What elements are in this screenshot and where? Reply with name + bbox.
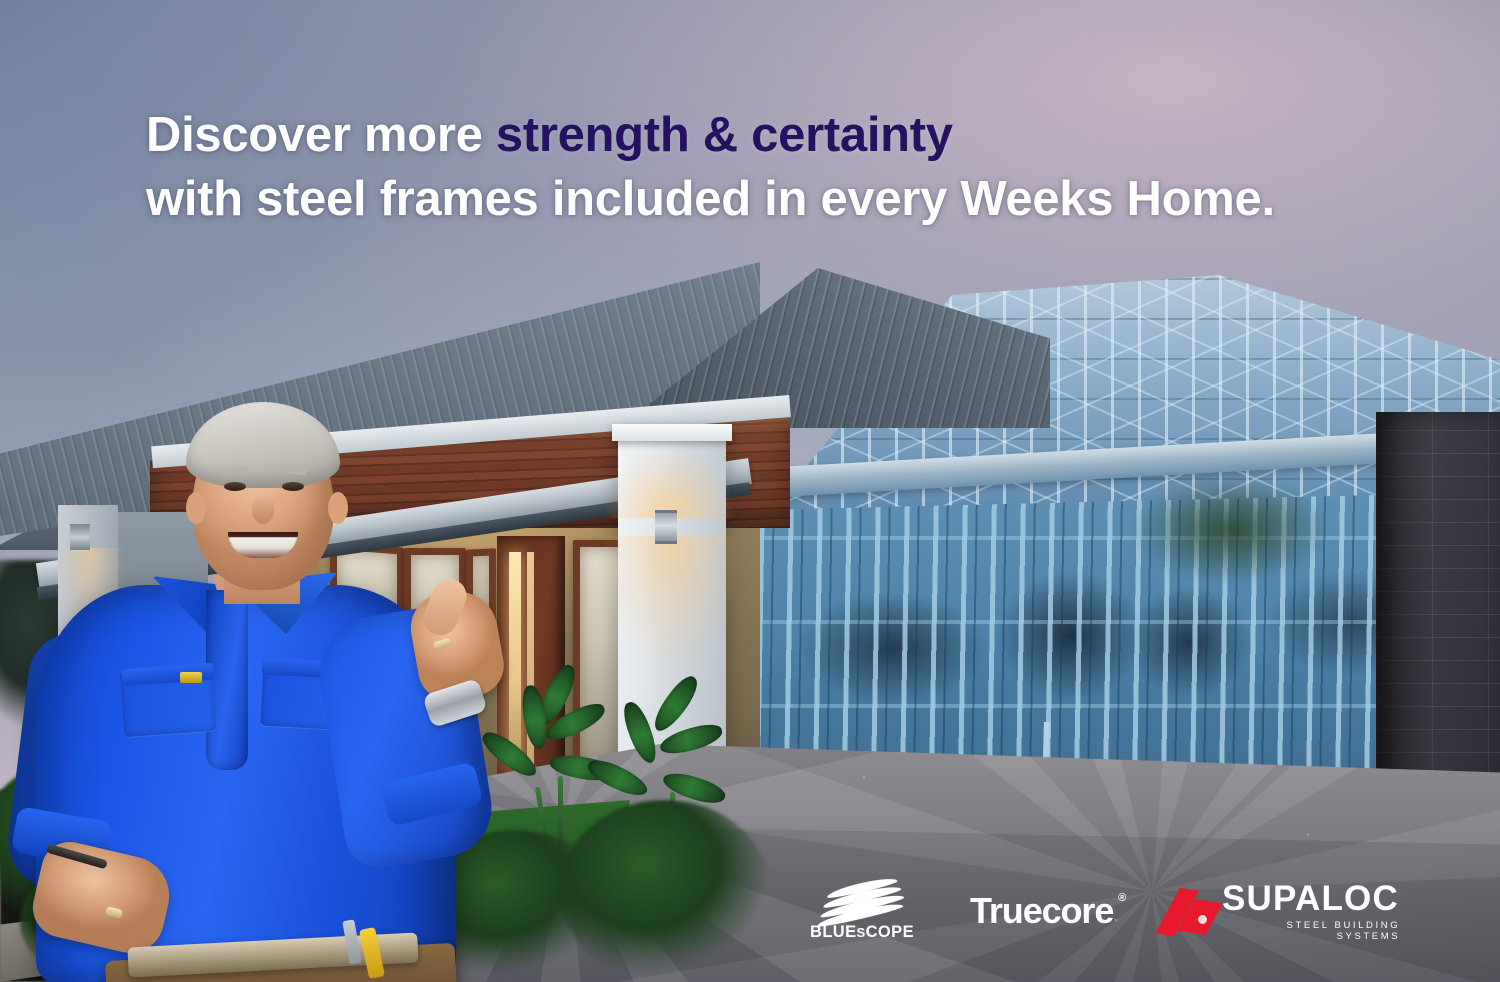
frame-background-foliage [1120, 470, 1340, 590]
presenter-eye-left [224, 482, 246, 491]
presenter-ear-right [328, 492, 348, 524]
shirt-brand-tag [180, 672, 202, 683]
page-title: Discover more strength & certainty with … [146, 104, 1356, 231]
supaloc-logo: SUPALOC STEEL BUILDING SYSTEMS [1165, 881, 1400, 942]
bluescope-wave-icon [816, 881, 908, 921]
presenter-nose [252, 496, 274, 524]
wall-light-fixture [655, 510, 677, 544]
supaloc-tagline: STEEL BUILDING SYSTEMS [1222, 920, 1400, 942]
banner-stage: Discover more strength & certainty with … [0, 0, 1500, 982]
headline-accent: strength & certainty [496, 108, 953, 162]
presenter-hair [186, 402, 340, 488]
partner-logo-bar: BLUESCOPE Truecore® SUPALOC STEEL BUILDI… [810, 872, 1330, 950]
pillar-downlight-beam [596, 536, 746, 696]
supaloc-wordmark: SUPALOC [1222, 881, 1400, 916]
truecore-registered-icon: ® [1118, 893, 1126, 904]
headline-line-2: with steel frames included in every Week… [146, 168, 1356, 232]
shrub-right [560, 800, 770, 982]
brick-wall-shadow [1376, 412, 1434, 822]
supaloc-slash-icon [1165, 885, 1218, 937]
headline-prefix: Discover more [146, 108, 496, 162]
presenter-ear-left [186, 492, 206, 524]
bluescope-wordmark: BLUESCOPE [810, 924, 914, 941]
presenter-eye-right [282, 482, 304, 491]
supaloc-text-block: SUPALOC STEEL BUILDING SYSTEMS [1222, 881, 1400, 942]
headline-line-1: Discover more strength & certainty [146, 104, 1356, 168]
truecore-logo: Truecore® [970, 893, 1113, 929]
bluescope-name-s: S [857, 925, 866, 940]
bluescope-logo: BLUESCOPE [810, 881, 914, 941]
presenter-figure [10, 400, 530, 982]
pillar-uplight-beam [600, 432, 740, 518]
truecore-wordmark: Truecore [970, 890, 1113, 931]
bluescope-name-cope: COPE [866, 923, 914, 941]
